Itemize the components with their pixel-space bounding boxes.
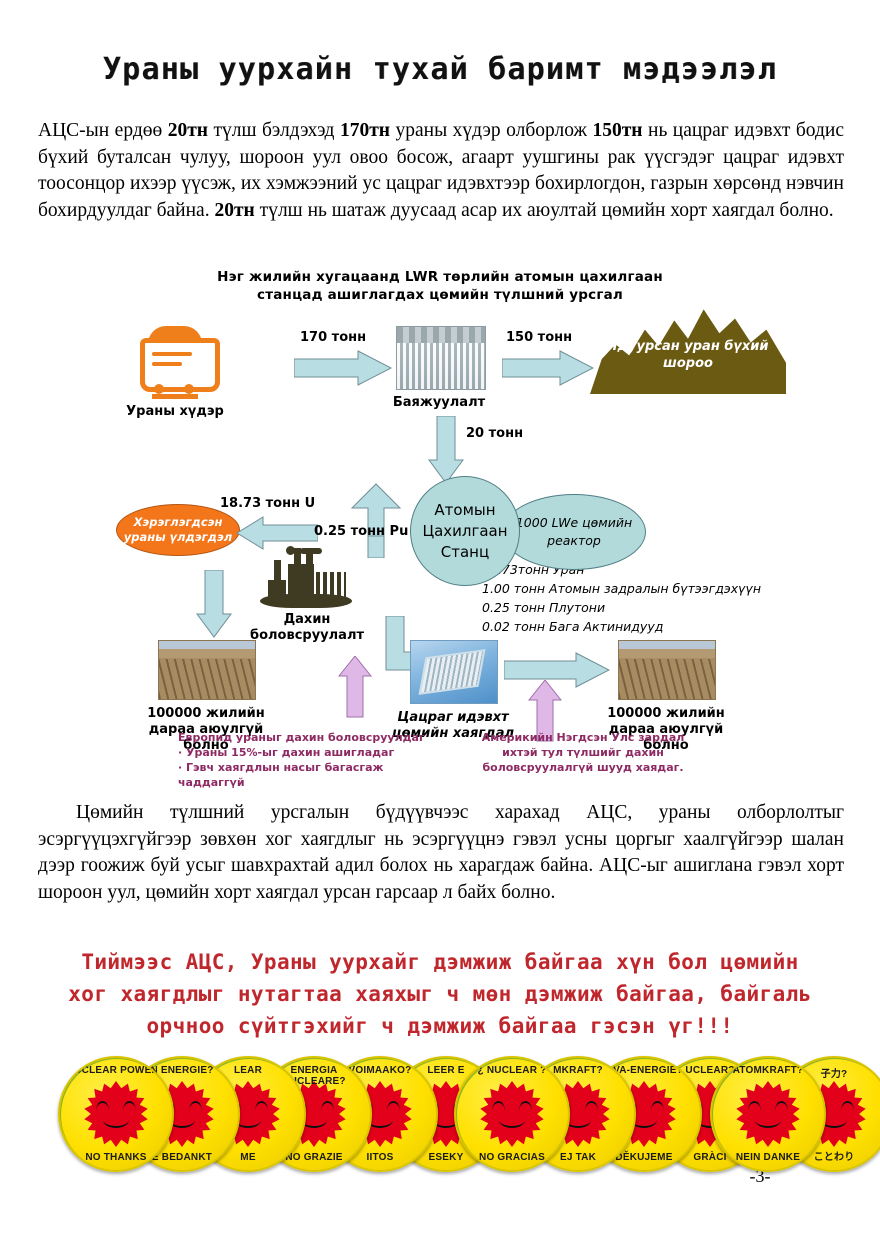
red-statement-line-2: хог хаягдлыг нутагтаа хаяхыг ч мөн дэмжи… [30, 978, 850, 1010]
composition-item: 18.73тонн Уран [482, 560, 761, 579]
arrow-up-to-reprocessing [338, 656, 372, 718]
node-enrichment: Баяжуулалт [396, 326, 494, 411]
fuel-flow-diagram: Нэг жилийн хугацаанд LWR төрлийн атомын … [110, 268, 770, 788]
antinuclear-badges-row: NUCLEAR POWER? NO THANKS N ENERGIE? E BE… [58, 1056, 848, 1176]
node-tailings-mountain: Ядуурсан уран бүхий шороо [590, 302, 786, 394]
arrow-ore-to-enrichment [294, 350, 392, 386]
flow-20-tonn-label: 20 тонн [466, 426, 523, 441]
arrow-plutonium-back [306, 480, 418, 558]
composition-item: 0.02 тонн Бага Актинидууд [482, 617, 761, 636]
factory-icon [258, 548, 354, 608]
page-title: Ураны уурхайн тухай баримт мэдээлэл [0, 52, 880, 87]
composition-item: 0.25 тонн Плутони [482, 598, 761, 617]
badge-top-text: ¿ NUCLEAR ? [456, 1065, 568, 1076]
note-line: ихтэй тул түлшийг дахин [468, 745, 698, 760]
arrow-spent-to-disposal-left [196, 570, 232, 638]
node-spent-uranium-label: Хэрэглэгдсэн ураны үлдэгдэл [117, 515, 239, 545]
flow-uranium-back-label: 18.73 тонн U [220, 496, 315, 511]
note-line: боловсруулалгүй шууд хаядаг. [468, 760, 698, 775]
flow-plutonium-back-label: 0.25 тонн Pu [314, 524, 408, 539]
note-line: · Ураны 15%-ыг дахин ашигладаг [178, 745, 448, 760]
red-statement-line-1: Тиймээс АЦС, Ураны уурхайг дэмжиж байгаа… [30, 946, 850, 978]
badge-bottom-text: NO THANKS [60, 1152, 172, 1163]
diagram-heading: Нэг жилийн хугацаанд LWR төрлийн атомын … [190, 268, 690, 304]
node-power-plant: Атомын Цахилгаан Станц [410, 476, 520, 586]
node-reactor: 1000 LWe цөмийн реактор [502, 494, 646, 570]
badge-bottom-text: NO GRACIAS [456, 1152, 568, 1163]
arrow-enrichment-to-plant [428, 416, 464, 484]
antinuclear-badge: NUCLEAR POWER? NO THANKS [58, 1056, 174, 1172]
arrow-enrichment-to-tailings [502, 350, 594, 386]
intro-paragraph: АЦС-ын ердөө 20тн түлш бэлдэхэд 170тн ур… [38, 118, 844, 224]
conclusion-paragraph: Цөмийн түлшний урсгалын бүдүүвчээс харах… [38, 800, 844, 906]
badge-bottom-text: NEIN DANKE [712, 1152, 824, 1163]
node-tailings-mountain-label: Ядуурсан уран бүхий шороо [590, 338, 786, 372]
note-europe-reprocessing: Европид ураныг дахин боловсруулдаг · Ура… [178, 730, 448, 790]
note-line: Европид ураныг дахин боловсруулдаг [178, 730, 448, 745]
node-uranium-ore-label: Ураны хүдэр [120, 404, 230, 420]
fuel-pool-photo [410, 640, 498, 704]
note-line: · Гэвч хаягдлын насыг багасгаж чаддаггүй [178, 760, 448, 790]
intro-paragraph-text: АЦС-ын ердөө 20тн түлш бэлдэхэд 170тн ур… [38, 120, 844, 221]
node-enrichment-label: Баяжуулалт [384, 395, 494, 411]
antinuclear-badge: ATOMKRAFT? NEIN DANKE [710, 1056, 826, 1172]
note-line: Америкийн Нэгдсэн Улс зардал [468, 730, 698, 745]
note-usa-direct-disposal: Америкийн Нэгдсэн Улс зардал ихтэй тул т… [468, 730, 698, 775]
desert-disposal-photo [618, 640, 716, 700]
node-nuclear-waste: Цацраг идэвхт цөмийн хаягдал [410, 640, 518, 742]
antinuclear-badge: ¿ NUCLEAR ? NO GRACIAS [454, 1056, 570, 1172]
enrichment-plant-photo [396, 326, 486, 390]
node-uranium-ore: Ураны хүдэр [134, 324, 230, 420]
red-statement-line-3: орчноо сүйтгэхийг ч дэмжиж байгаа гэсэн … [30, 1010, 850, 1042]
conclusion-paragraph-text: Цөмийн түлшний урсгалын бүдүүвчээс харах… [38, 802, 844, 903]
badge-top-text: ATOMKRAFT? [712, 1065, 824, 1076]
composition-item: 1.00 тонн Атомын задралын бүтээгдэхүүн [482, 579, 761, 598]
badge-top-text: NUCLEAR POWER? [60, 1065, 172, 1076]
node-spent-uranium: Хэрэглэгдсэн ураны үлдэгдэл [116, 504, 240, 556]
desert-disposal-photo [158, 640, 256, 700]
node-reprocessing: Дахин боловсруулалт [258, 548, 382, 644]
node-reactor-label: 1000 LWe цөмийн реактор [503, 514, 645, 550]
flow-150-tonn-label: 150 тонн [506, 330, 572, 345]
spent-fuel-composition: 18.73тонн Уран 1.00 тонн Атомын задралын… [482, 560, 761, 636]
node-power-plant-label: Атомын Цахилгаан Станц [411, 500, 519, 563]
ore-cart-icon [134, 324, 216, 398]
red-statement: Тиймээс АЦС, Ураны уурхайг дэмжиж байгаа… [30, 946, 850, 1042]
flow-170-tonn-label: 170 тонн [300, 330, 366, 345]
